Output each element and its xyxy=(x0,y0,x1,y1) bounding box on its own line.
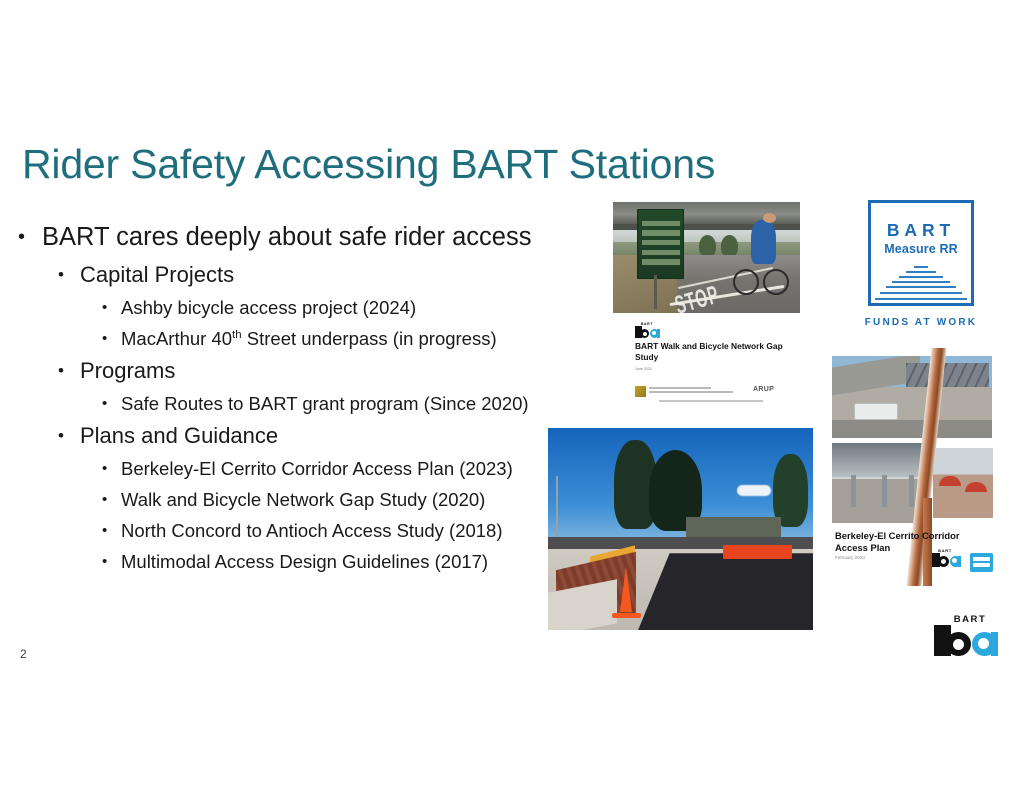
list-item-label: Berkeley-El Cerrito Corridor Access Plan… xyxy=(121,455,563,482)
logo-bart-measure-rr: BART Measure RR FUNDS AT WORK xyxy=(860,198,982,328)
photo-cyclist-bike-path-underpass: STOP xyxy=(613,202,800,313)
cover-photo-umbrella xyxy=(965,482,987,492)
list-item: • BART cares deeply about safe rider acc… xyxy=(18,222,563,253)
list-item-label: Plans and Guidance xyxy=(80,421,563,450)
photo-cloud xyxy=(737,485,771,496)
list-item: • Safe Routes to BART grant program (Sin… xyxy=(18,390,563,417)
slide: Rider Safety Accessing BART Stations • B… xyxy=(0,0,1024,791)
logo-bart: BART xyxy=(934,614,1000,658)
cover-photo-umbrella xyxy=(939,476,961,486)
page-title: Rider Safety Accessing BART Stations xyxy=(22,141,722,187)
list-item-label: MacArthur 40th Street underpass (in prog… xyxy=(121,325,563,352)
list-item: • Berkeley-El Cerrito Corridor Access Pl… xyxy=(18,455,563,482)
bart-logo-a-stem xyxy=(991,632,998,656)
list-item-label: North Concord to Antioch Access Study (2… xyxy=(121,517,563,544)
list-item-label: Ashby bicycle access project (2024) xyxy=(121,294,563,321)
list-item: • Ashby bicycle access project (2024) xyxy=(18,294,563,321)
list-item: • Plans and Guidance xyxy=(18,421,563,450)
bart-logo-b-counter xyxy=(953,639,964,650)
cover-date: June 2020 xyxy=(635,367,652,371)
photo-utility-pole xyxy=(556,476,558,545)
bullet-marker: • xyxy=(102,390,107,417)
photo-tree xyxy=(721,235,738,257)
credit-text-line xyxy=(649,387,711,389)
text-after-superscript: Street underpass (in progress) xyxy=(242,328,497,349)
bullet-marker: • xyxy=(102,455,107,482)
list-item: • MacArthur 40th Street underpass (in pr… xyxy=(18,325,563,352)
bullet-marker: • xyxy=(102,486,107,513)
bart-wordmark: BART xyxy=(938,548,952,553)
partner-agency-logo-icon xyxy=(970,553,993,572)
consultant-name: ARUP xyxy=(753,386,774,393)
logo-bart-text: BART xyxy=(860,220,982,241)
bart-wordmark: BART xyxy=(954,614,986,625)
bart-logo-icon: BART xyxy=(932,548,962,567)
photo-cyclist-figure xyxy=(751,220,775,264)
page-number: 2 xyxy=(20,647,27,661)
cover-date: February 2023 xyxy=(835,555,865,560)
photo-background-building xyxy=(686,517,781,537)
bullet-marker: • xyxy=(58,260,64,289)
list-item-label: Multimodal Access Design Guidelines (201… xyxy=(121,548,563,575)
logo-measure-rr-text: Measure RR xyxy=(860,242,982,256)
credit-text-line xyxy=(649,391,733,393)
bullet-marker: • xyxy=(102,548,107,575)
photo-new-sidewalk-construction xyxy=(548,428,813,630)
bart-logo-icon: BART xyxy=(635,322,661,338)
photo-wayfinding-sign xyxy=(637,209,684,280)
cover-photo-station-plaza xyxy=(832,356,992,438)
photo-traffic-cone xyxy=(620,566,632,612)
cover-walk-bicycle-gap-study: BART BART Walk and Bicycle Network Gap S… xyxy=(613,313,800,421)
bart-logo-b-counter xyxy=(643,332,647,336)
bart-logo-a-stem xyxy=(958,556,961,567)
bart-logo-b-counter xyxy=(941,559,946,564)
logo-track-graphic xyxy=(874,266,968,306)
logo-funds-at-work-text: FUNDS AT WORK xyxy=(860,317,982,328)
list-item-label: Programs xyxy=(80,356,563,385)
bullet-marker: • xyxy=(102,325,107,352)
cover-title: BART Walk and Bicycle Network Gap Study xyxy=(635,341,785,363)
list-item: • North Concord to Antioch Access Study … xyxy=(18,517,563,544)
cover-photo-column xyxy=(851,475,856,507)
bart-wordmark: BART xyxy=(641,322,653,326)
credit-text-line xyxy=(659,400,763,402)
photo-cyclist-head xyxy=(763,213,776,223)
cover-photo-ground xyxy=(832,420,992,438)
photo-orange-barrier xyxy=(723,545,792,559)
photo-traffic-cone-base xyxy=(612,613,641,618)
bullet-marker: • xyxy=(58,421,64,450)
bullet-marker: • xyxy=(102,517,107,544)
cover-berkeley-el-cerrito-access-plan: Berkeley-El Cerrito Corridor Access Plan… xyxy=(823,348,1001,586)
bullet-list: • BART cares deeply about safe rider acc… xyxy=(18,222,563,579)
cover-photo-canopy xyxy=(832,443,928,477)
list-item-label: BART cares deeply about safe rider acces… xyxy=(42,222,563,253)
list-item: • Multimodal Access Design Guidelines (2… xyxy=(18,548,563,575)
bart-logo-a-counter xyxy=(652,331,656,335)
list-item: • Programs xyxy=(18,356,563,385)
cover-photo-truss xyxy=(906,363,989,388)
agency-seal-icon xyxy=(635,386,646,397)
bart-logo-a-counter xyxy=(952,558,957,563)
text-before-superscript: MacArthur 40 xyxy=(121,328,232,349)
photo-bicycle-wheel xyxy=(763,269,789,295)
list-item: • Walk and Bicycle Network Gap Study (20… xyxy=(18,486,563,513)
cover-logos: BART xyxy=(932,548,993,572)
list-item-label: Safe Routes to BART grant program (Since… xyxy=(121,390,563,417)
cover-photo-column xyxy=(882,475,887,507)
photo-sign-post xyxy=(654,275,657,308)
list-item-label: Capital Projects xyxy=(80,260,563,289)
cover-photo-bus xyxy=(854,403,898,420)
bullet-marker: • xyxy=(102,294,107,321)
bullet-marker: • xyxy=(58,356,64,385)
list-item-label: Walk and Bicycle Network Gap Study (2020… xyxy=(121,486,563,513)
cover-photo-column xyxy=(909,475,914,507)
bullet-marker: • xyxy=(18,222,25,253)
photo-tree xyxy=(699,235,716,257)
bart-logo-a-stem xyxy=(657,329,660,338)
bart-logo-a-counter xyxy=(978,638,989,649)
ordinal-superscript: th xyxy=(232,329,242,341)
list-item: • Capital Projects xyxy=(18,260,563,289)
cover-photo-street-cafe xyxy=(933,448,993,518)
photo-bicycle-wheel xyxy=(733,269,759,295)
